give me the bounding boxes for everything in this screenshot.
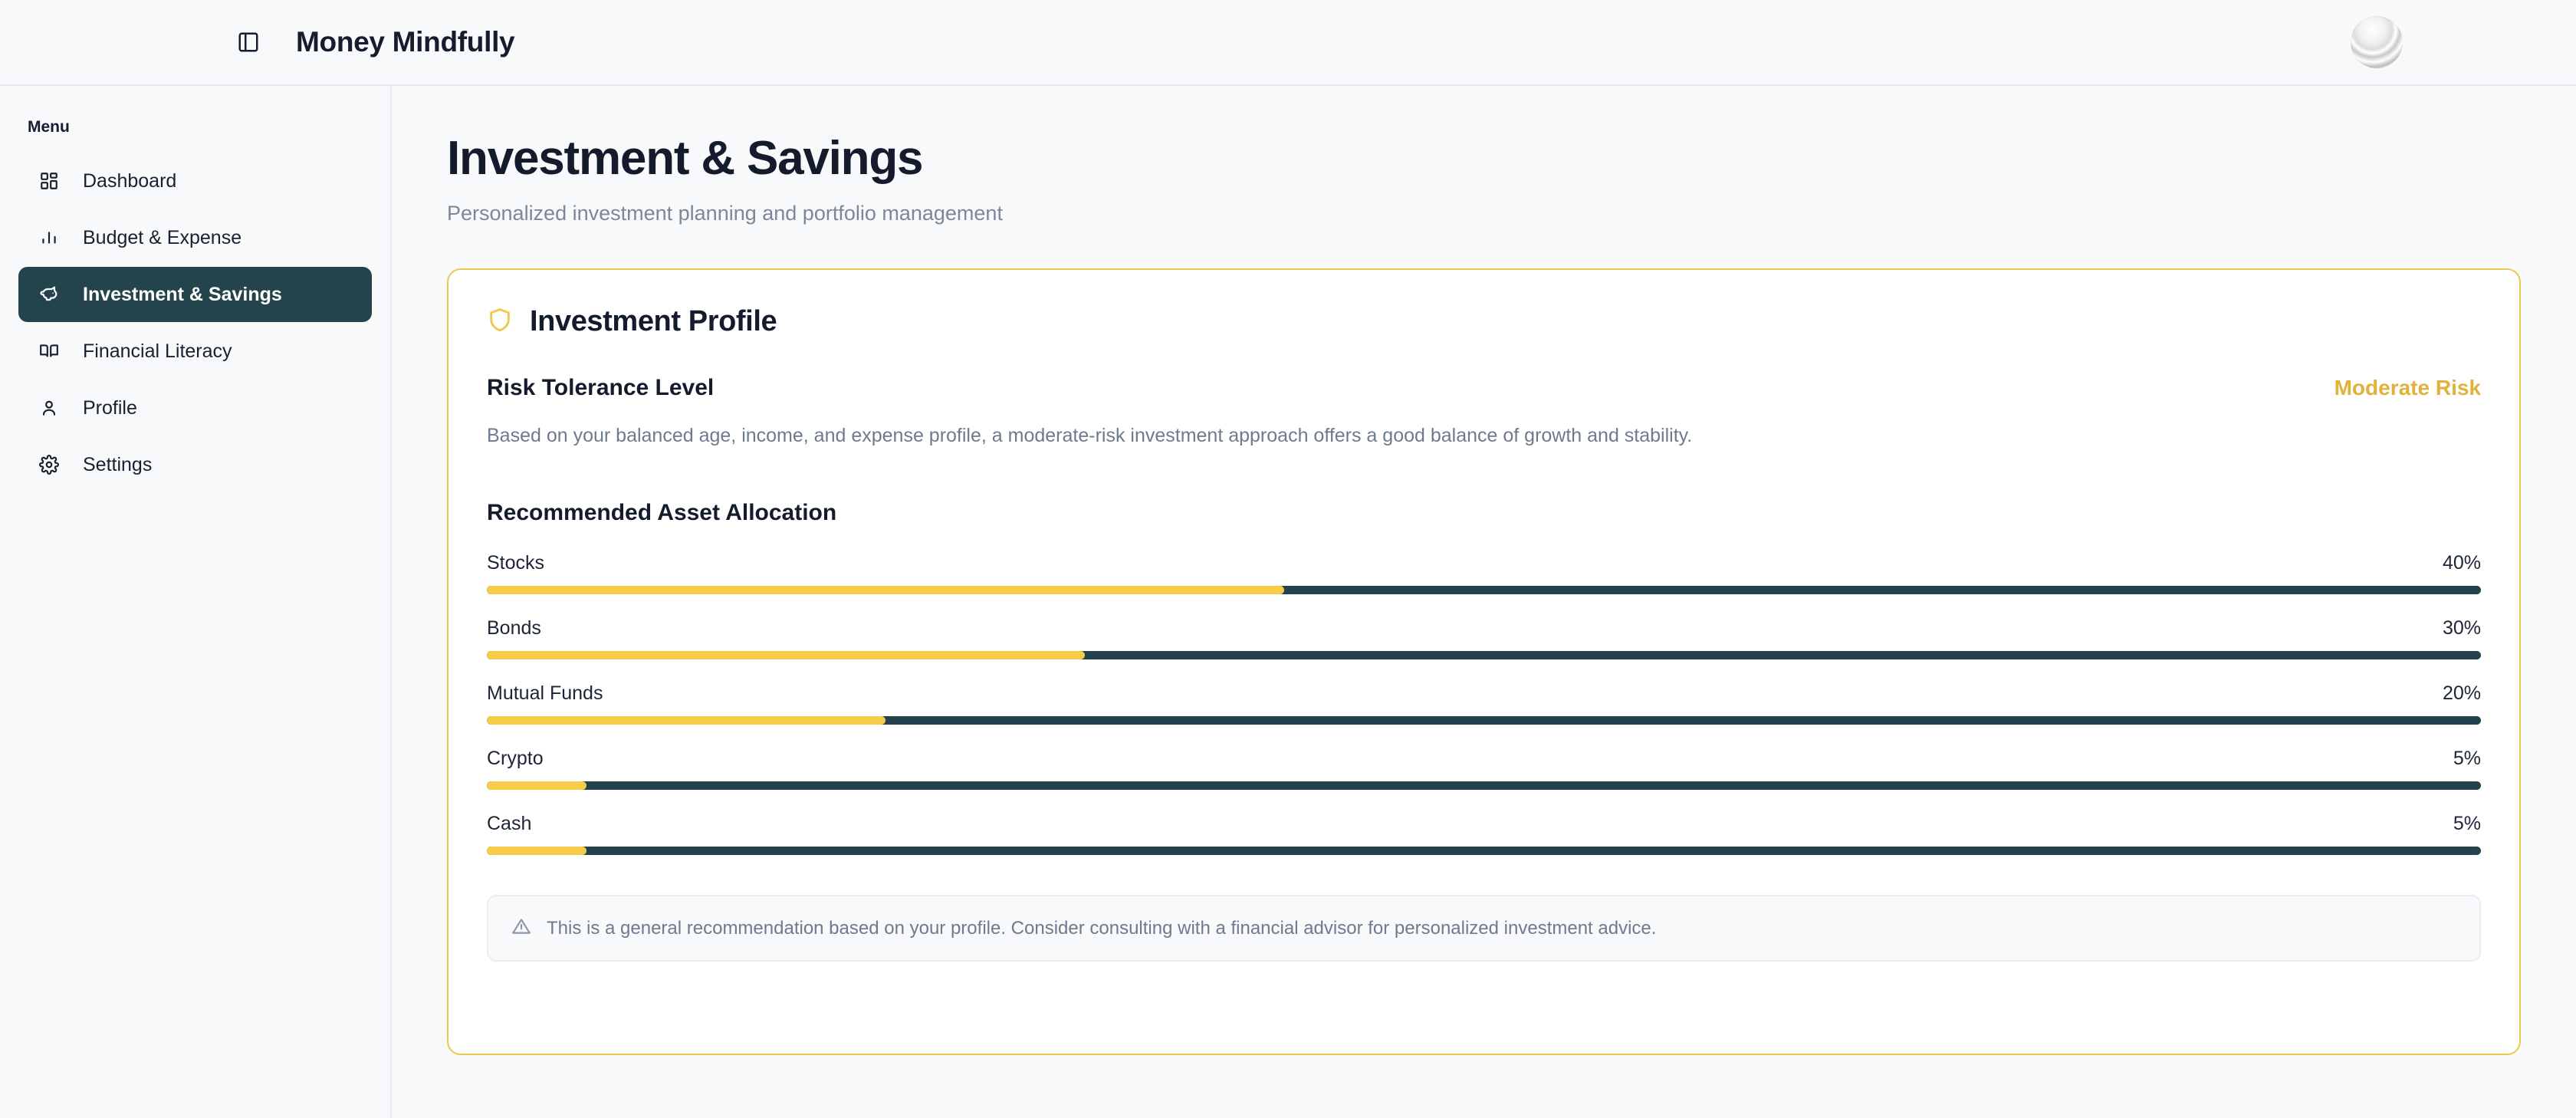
allocation-row: Bonds 30% xyxy=(487,617,2481,659)
investment-profile-card: Investment Profile Risk Tolerance Level … xyxy=(447,268,2521,1055)
allocation-heading: Recommended Asset Allocation xyxy=(487,500,2481,526)
risk-level-badge: Moderate Risk xyxy=(2334,376,2481,400)
allocation-progress-fill xyxy=(487,651,1085,659)
sidebar: Menu Dashboard xyxy=(0,86,392,1118)
warning-triangle-icon xyxy=(511,916,531,940)
piggy-bank-icon xyxy=(37,282,61,307)
risk-tolerance-heading: Risk Tolerance Level xyxy=(487,375,714,401)
disclaimer-text: This is a general recommendation based o… xyxy=(547,918,1656,939)
risk-description: Based on your balanced age, income, and … xyxy=(487,423,2481,449)
allocation-value: 5% xyxy=(2453,813,2481,835)
allocation-progress-fill xyxy=(487,781,586,790)
allocation-row-head: Cash 5% xyxy=(487,813,2481,835)
allocation-label: Stocks xyxy=(487,552,544,574)
allocation-label: Crypto xyxy=(487,748,544,770)
sidebar-item-label: Budget & Expense xyxy=(83,227,242,249)
sidebar-item-profile[interactable]: Profile xyxy=(18,380,372,436)
allocation-progress-track xyxy=(487,651,2481,659)
app-header: Money Mindfully xyxy=(0,0,2576,86)
page-subtitle: Personalized investment planning and por… xyxy=(447,202,2521,225)
sidebar-item-settings[interactable]: Settings xyxy=(18,437,372,492)
app-title: Money Mindfully xyxy=(296,26,514,58)
open-book-icon xyxy=(37,339,61,363)
allocation-progress-fill xyxy=(487,586,1284,594)
allocation-progress-track xyxy=(487,586,2481,594)
user-icon xyxy=(37,396,61,420)
allocation-row-head: Stocks 40% xyxy=(487,552,2481,574)
allocation-progress-fill xyxy=(487,847,586,855)
sidebar-toggle-icon[interactable] xyxy=(230,24,267,61)
sidebar-item-investment-savings[interactable]: Investment & Savings xyxy=(18,267,372,322)
allocation-progress-track xyxy=(487,716,2481,725)
allocation-progress-track xyxy=(487,847,2481,855)
allocation-list: Stocks 40% Bonds 30% xyxy=(487,552,2481,855)
main-content: Investment & Savings Personalized invest… xyxy=(392,86,2576,1118)
avatar[interactable] xyxy=(2351,16,2403,68)
grid-icon xyxy=(37,169,61,193)
card-header: Investment Profile xyxy=(487,305,2481,338)
sidebar-item-label: Settings xyxy=(83,454,152,476)
allocation-row-head: Crypto 5% xyxy=(487,748,2481,770)
allocation-label: Cash xyxy=(487,813,531,835)
sidebar-item-budget-expense[interactable]: Budget & Expense xyxy=(18,210,372,265)
sidebar-item-label: Investment & Savings xyxy=(83,284,282,306)
allocation-row: Cash 5% xyxy=(487,813,2481,855)
sidebar-item-label: Profile xyxy=(83,397,137,419)
sidebar-item-label: Financial Literacy xyxy=(83,340,232,363)
card-title: Investment Profile xyxy=(530,305,777,338)
app-root: Money Mindfully Menu Dashboard xyxy=(0,0,2576,1118)
gear-icon xyxy=(37,452,61,477)
shield-icon xyxy=(487,307,513,337)
sidebar-item-dashboard[interactable]: Dashboard xyxy=(18,153,372,209)
allocation-value: 20% xyxy=(2443,682,2481,705)
sidebar-item-label: Dashboard xyxy=(83,170,176,192)
page-title: Investment & Savings xyxy=(447,133,2521,183)
bar-chart-icon xyxy=(37,225,61,250)
allocation-value: 40% xyxy=(2443,552,2481,574)
allocation-row: Mutual Funds 20% xyxy=(487,682,2481,725)
allocation-label: Mutual Funds xyxy=(487,682,603,705)
allocation-value: 30% xyxy=(2443,617,2481,640)
allocation-progress-track xyxy=(487,781,2481,790)
allocation-row: Crypto 5% xyxy=(487,748,2481,790)
disclaimer-note: This is a general recommendation based o… xyxy=(487,895,2481,962)
allocation-value: 5% xyxy=(2453,748,2481,770)
allocation-row-head: Mutual Funds 20% xyxy=(487,682,2481,705)
allocation-label: Bonds xyxy=(487,617,541,640)
risk-tolerance-row: Risk Tolerance Level Moderate Risk xyxy=(487,375,2481,401)
body-row: Menu Dashboard xyxy=(0,86,2576,1118)
allocation-row-head: Bonds 30% xyxy=(487,617,2481,640)
allocation-row: Stocks 40% xyxy=(487,552,2481,594)
menu-label: Menu xyxy=(18,109,372,153)
allocation-progress-fill xyxy=(487,716,886,725)
sidebar-item-financial-literacy[interactable]: Financial Literacy xyxy=(18,324,372,379)
